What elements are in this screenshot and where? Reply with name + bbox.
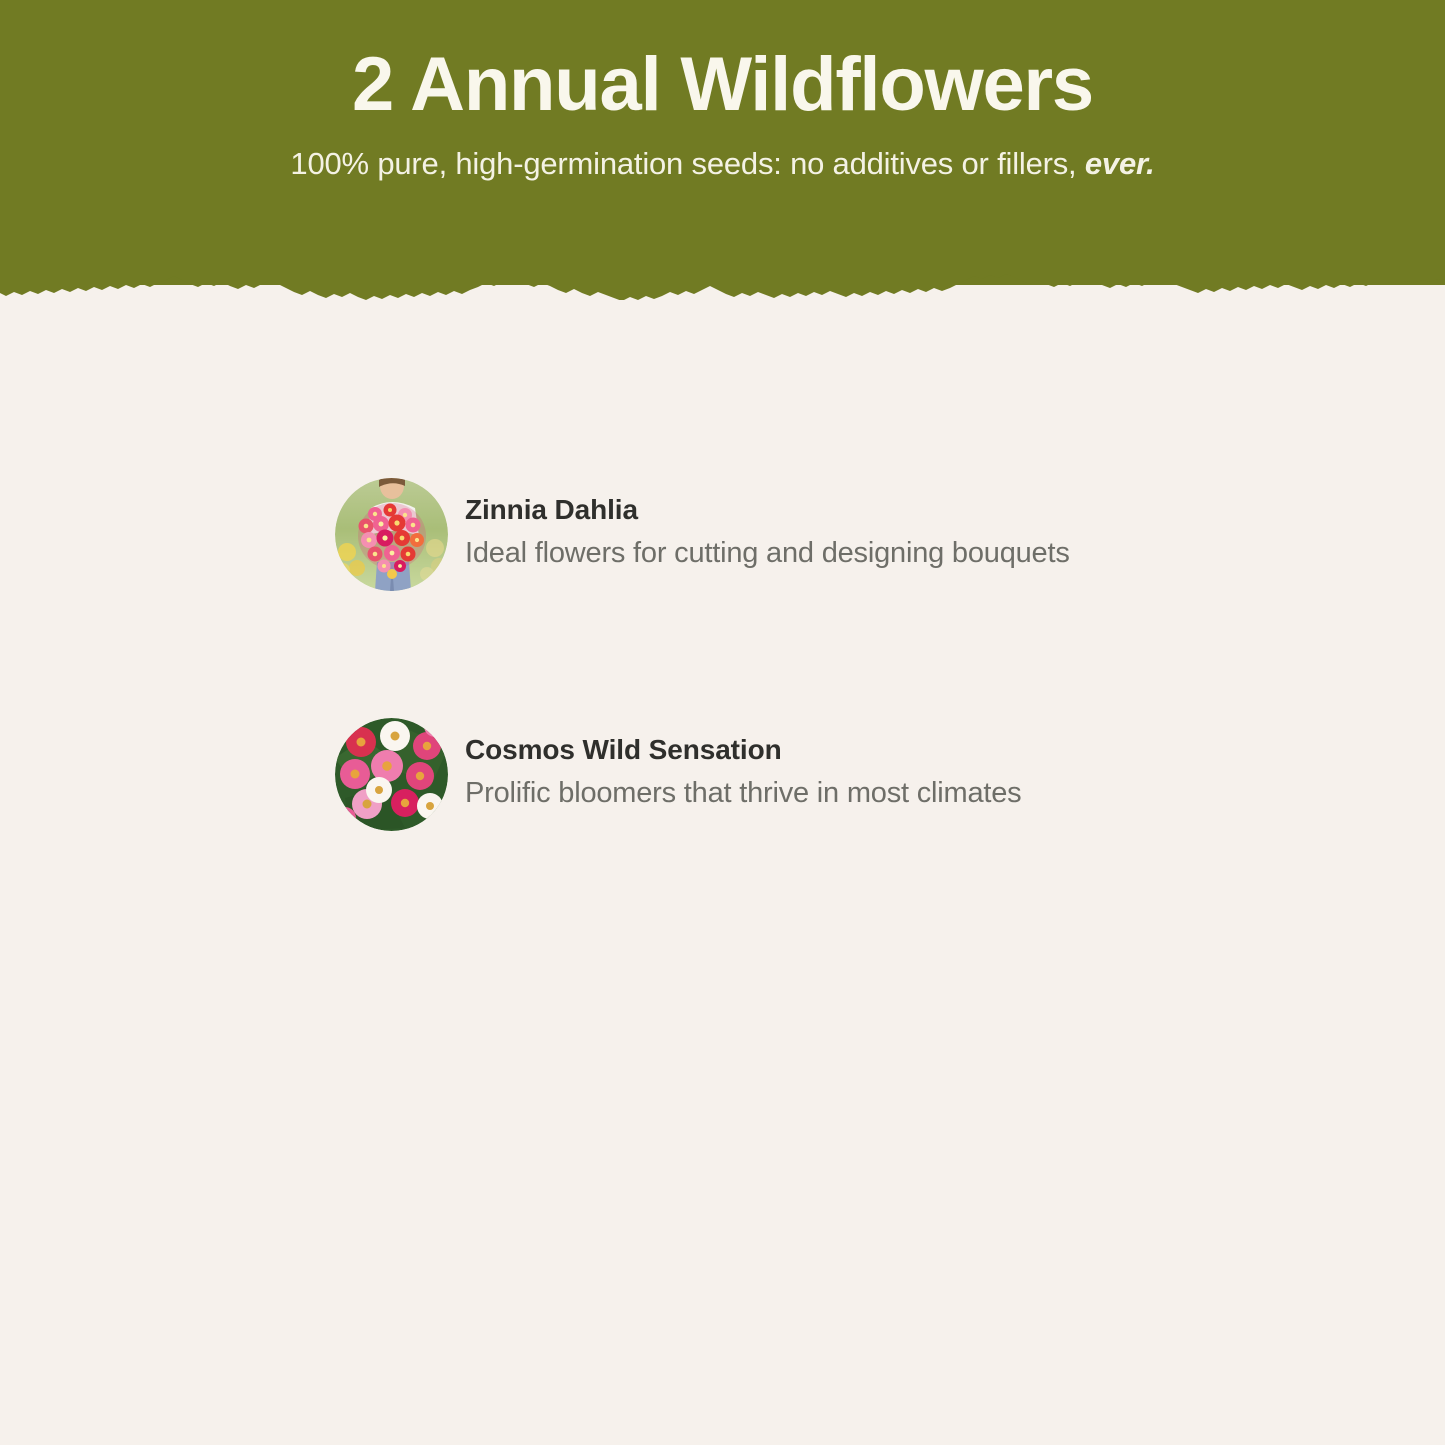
cosmos-wild-sensation-thumbnail-image	[335, 718, 448, 831]
page-header-banner: 2 Annual Wildflowers 100% pure, high-ger…	[0, 0, 1445, 300]
variety-description: Prolific bloomers that thrive in most cl…	[465, 775, 1021, 811]
feature-text-block: Cosmos Wild Sensation Prolific bloomers …	[465, 718, 1021, 811]
banner-content: 2 Annual Wildflowers 100% pure, high-ger…	[0, 0, 1445, 285]
zinnia-bouquet-photo-icon	[335, 478, 448, 591]
list-item: Zinnia Dahlia Ideal flowers for cutting …	[335, 478, 1335, 591]
variety-name: Zinnia Dahlia	[465, 493, 1070, 527]
subtitle-emphasis-text: ever.	[1085, 146, 1155, 181]
variety-name: Cosmos Wild Sensation	[465, 733, 1021, 767]
page-subtitle: 100% pure, high-germination seeds: no ad…	[290, 146, 1154, 182]
list-item: Cosmos Wild Sensation Prolific bloomers …	[335, 718, 1335, 831]
flower-variety-list: Zinnia Dahlia Ideal flowers for cutting …	[335, 478, 1335, 958]
zinnia-dahlia-thumbnail-image	[335, 478, 448, 591]
variety-description: Ideal flowers for cutting and designing …	[465, 535, 1070, 571]
page-title: 2 Annual Wildflowers	[352, 46, 1093, 124]
feature-text-block: Zinnia Dahlia Ideal flowers for cutting …	[465, 478, 1070, 571]
subtitle-main-text: 100% pure, high-germination seeds: no ad…	[290, 146, 1076, 181]
cosmos-flowers-photo-icon	[335, 718, 448, 831]
